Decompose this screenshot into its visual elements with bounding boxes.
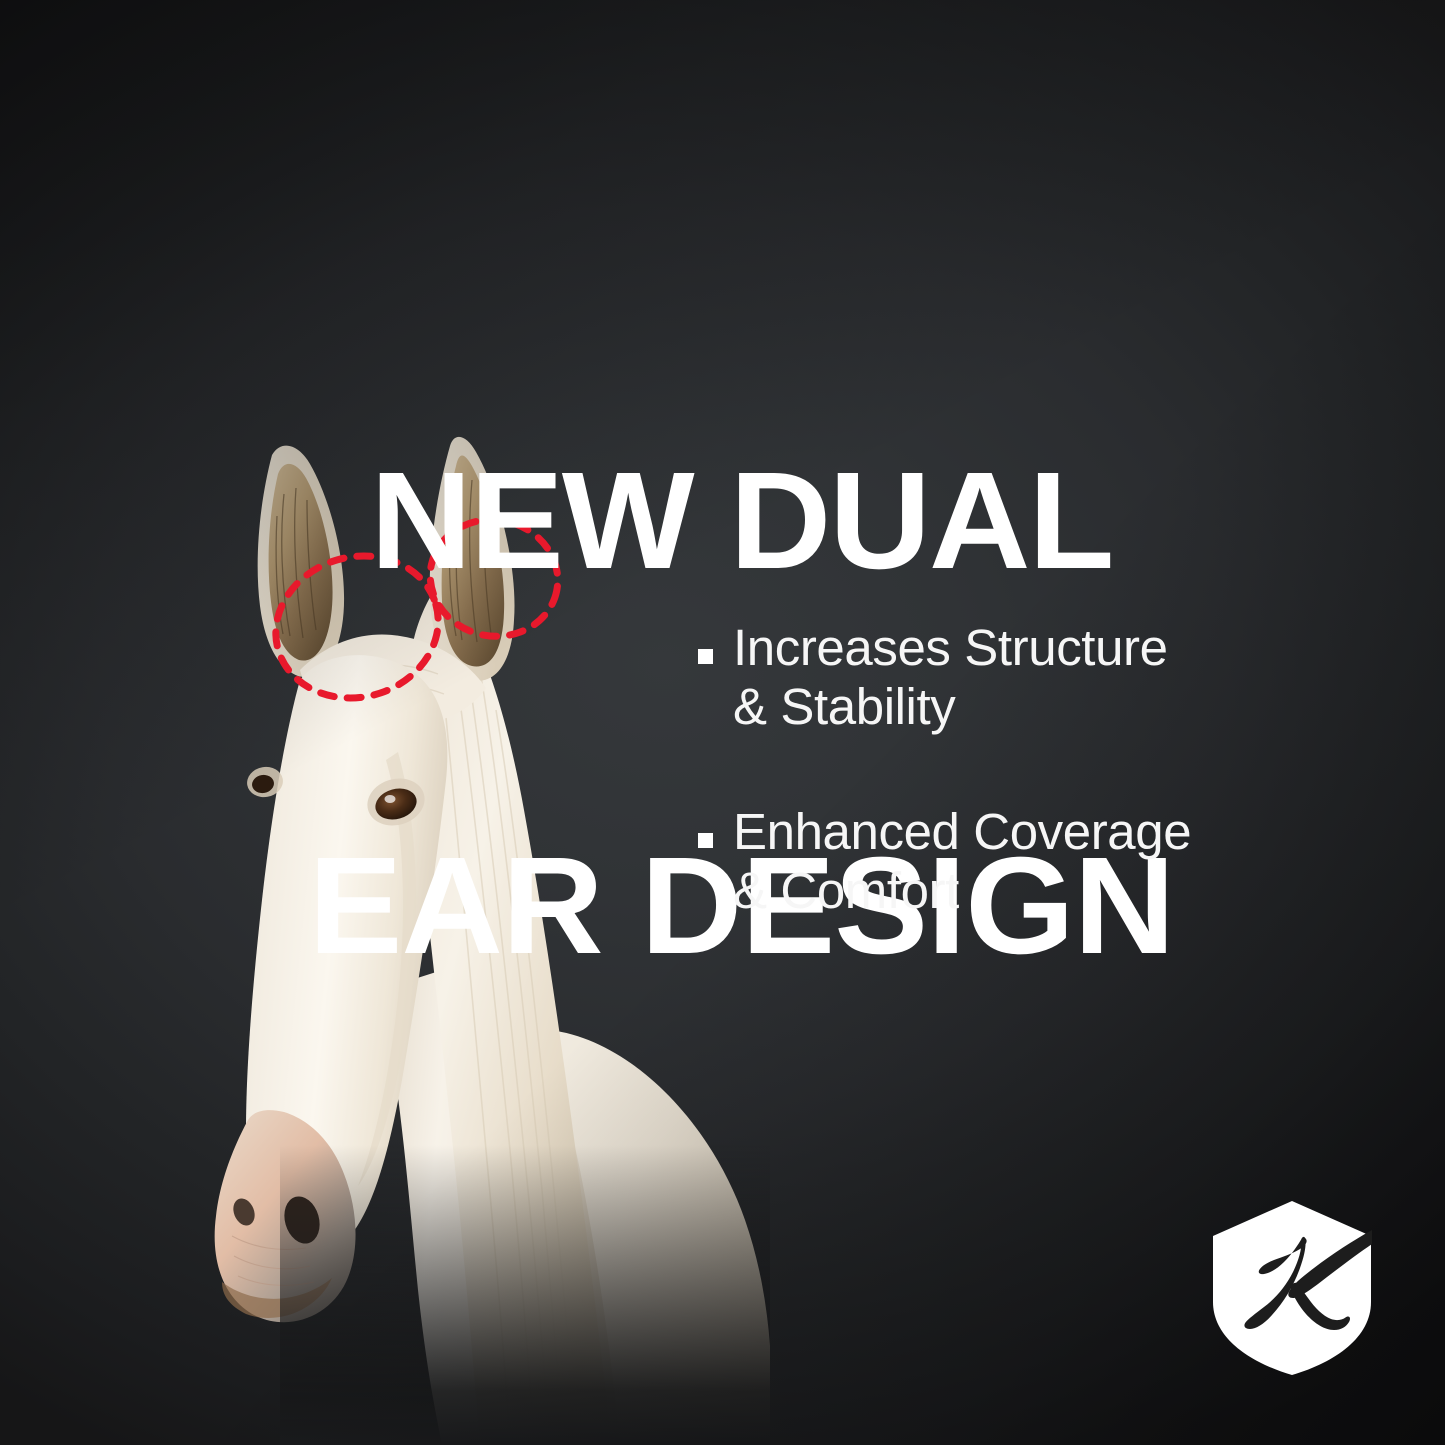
- list-item: Increases Structure & Stability: [698, 618, 1358, 736]
- bullet-text: Enhanced Coverage & Comfort: [733, 802, 1191, 920]
- square-bullet-icon: [698, 833, 713, 848]
- bullet-1-line-2: & Stability: [733, 678, 955, 735]
- ad-canvas: NEW DUAL EAR DESIGN Increases Structure …: [0, 0, 1445, 1445]
- feature-bullet-list: Increases Structure & Stability Enhanced…: [698, 618, 1358, 921]
- bullet-1-line-1: Increases Structure: [733, 619, 1168, 676]
- bullet-2-line-1: Enhanced Coverage: [733, 803, 1191, 860]
- shield-icon: [1206, 1198, 1378, 1378]
- brand-shield-logo: [1206, 1198, 1378, 1378]
- headline-line-1: NEW DUAL: [262, 457, 1221, 585]
- bullet-2-line-2: & Comfort: [733, 862, 959, 919]
- square-bullet-icon: [698, 649, 713, 664]
- bullet-text: Increases Structure & Stability: [733, 618, 1168, 736]
- list-item: Enhanced Coverage & Comfort: [698, 802, 1358, 920]
